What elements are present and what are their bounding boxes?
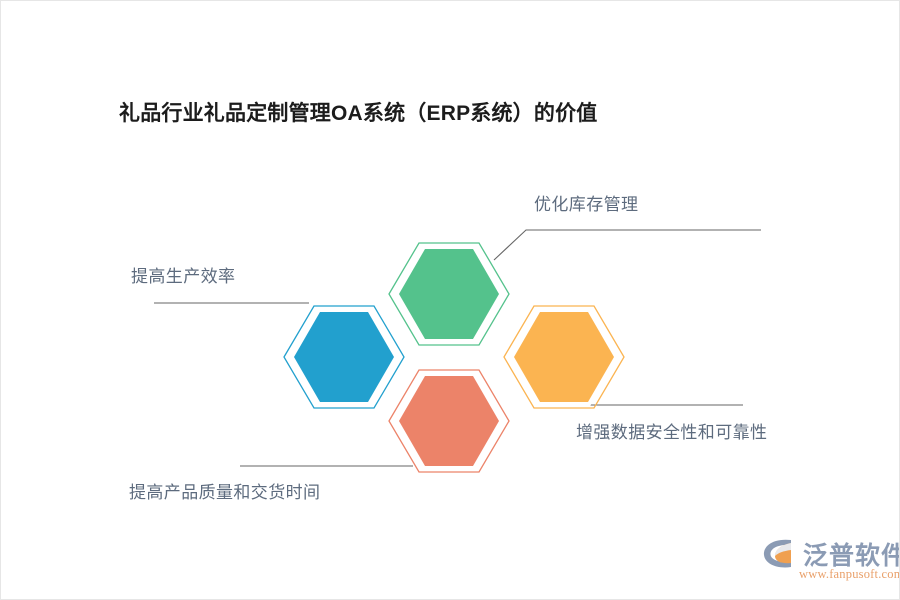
hexagon-node-red[interactable]: [389, 370, 509, 472]
hexagon-node-green[interactable]: [389, 243, 509, 345]
hexagon-node-blue[interactable]: [284, 306, 404, 408]
hexagon-diagram: [1, 1, 900, 600]
connector-line-green: [494, 230, 761, 260]
logo-url-text: www.fanpusoft.com: [799, 567, 900, 582]
brand-logo: 泛普软件 www.fanpusoft.com: [761, 534, 893, 590]
hexagon-node-orange[interactable]: [504, 306, 624, 408]
node-label-red: 提高产品质量和交货时间: [129, 478, 320, 503]
node-label-green: 优化库存管理: [534, 190, 638, 215]
node-label-orange: 增强数据安全性和可靠性: [576, 418, 767, 443]
node-label-blue: 提高生产效率: [131, 262, 235, 287]
infographic-page: 礼品行业礼品定制管理OA系统（ERP系统）的价值: [0, 0, 900, 600]
fanpu-logo-icon: [761, 537, 801, 569]
